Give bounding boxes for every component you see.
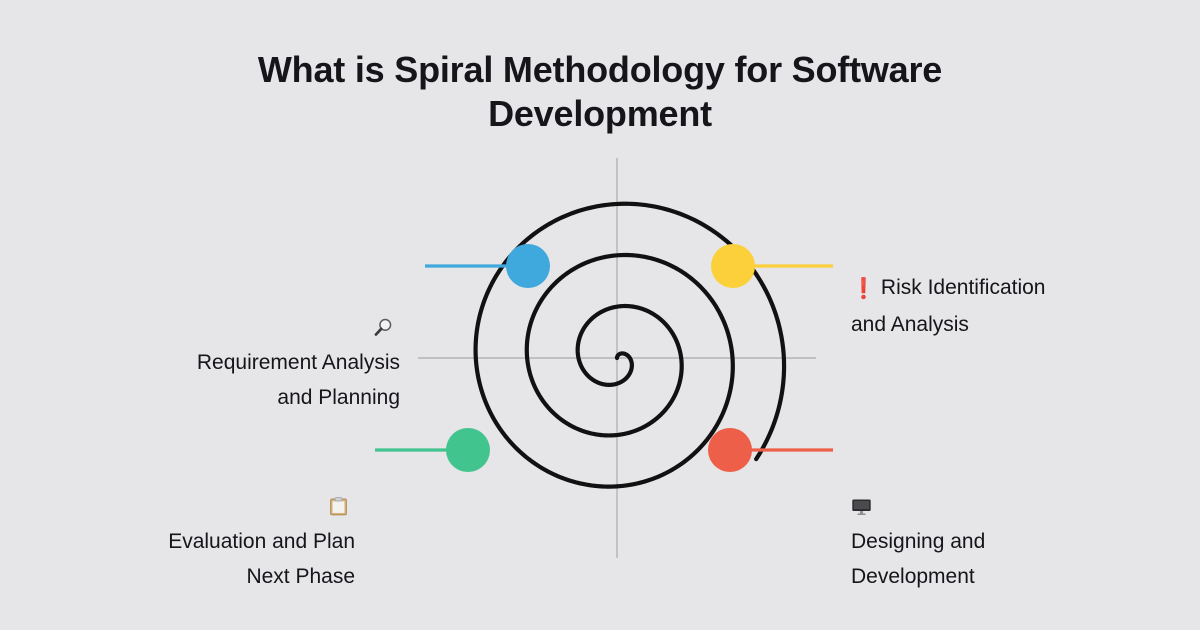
phase-label-text-risk-identification: Risk Identification and Analysis <box>851 276 1045 336</box>
phase-label-designing-development: Designing and Development <box>851 419 1151 594</box>
diagram-canvas: What is Spiral Methodology for Software … <box>0 0 1200 630</box>
milestone-dot-risk-identification[interactable] <box>711 244 755 288</box>
phase-label-evaluation-next-phase: Evaluation and Plan Next Phase <box>65 419 355 594</box>
monitor-icon <box>851 495 878 518</box>
phase-label-text-designing-development: Designing and Development <box>851 530 985 588</box>
phase-label-text-requirement-analysis: Requirement Analysis and Planning <box>197 351 400 409</box>
phase-label-text-evaluation-next-phase: Evaluation and Plan Next Phase <box>168 530 355 588</box>
phase-label-requirement-analysis: Requirement Analysis and Planning <box>100 240 400 415</box>
clipboard-icon <box>328 495 355 518</box>
exclamation-mark-icon: ❗ <box>851 272 876 307</box>
phase-label-risk-identification: ❗Risk Identification and Analysis <box>851 235 1151 342</box>
milestone-dot-requirement-analysis[interactable] <box>506 244 550 288</box>
milestone-dot-evaluation-next-phase[interactable] <box>446 428 490 472</box>
milestone-dot-designing-development[interactable] <box>708 428 752 472</box>
magnifying-glass-icon <box>373 316 400 339</box>
